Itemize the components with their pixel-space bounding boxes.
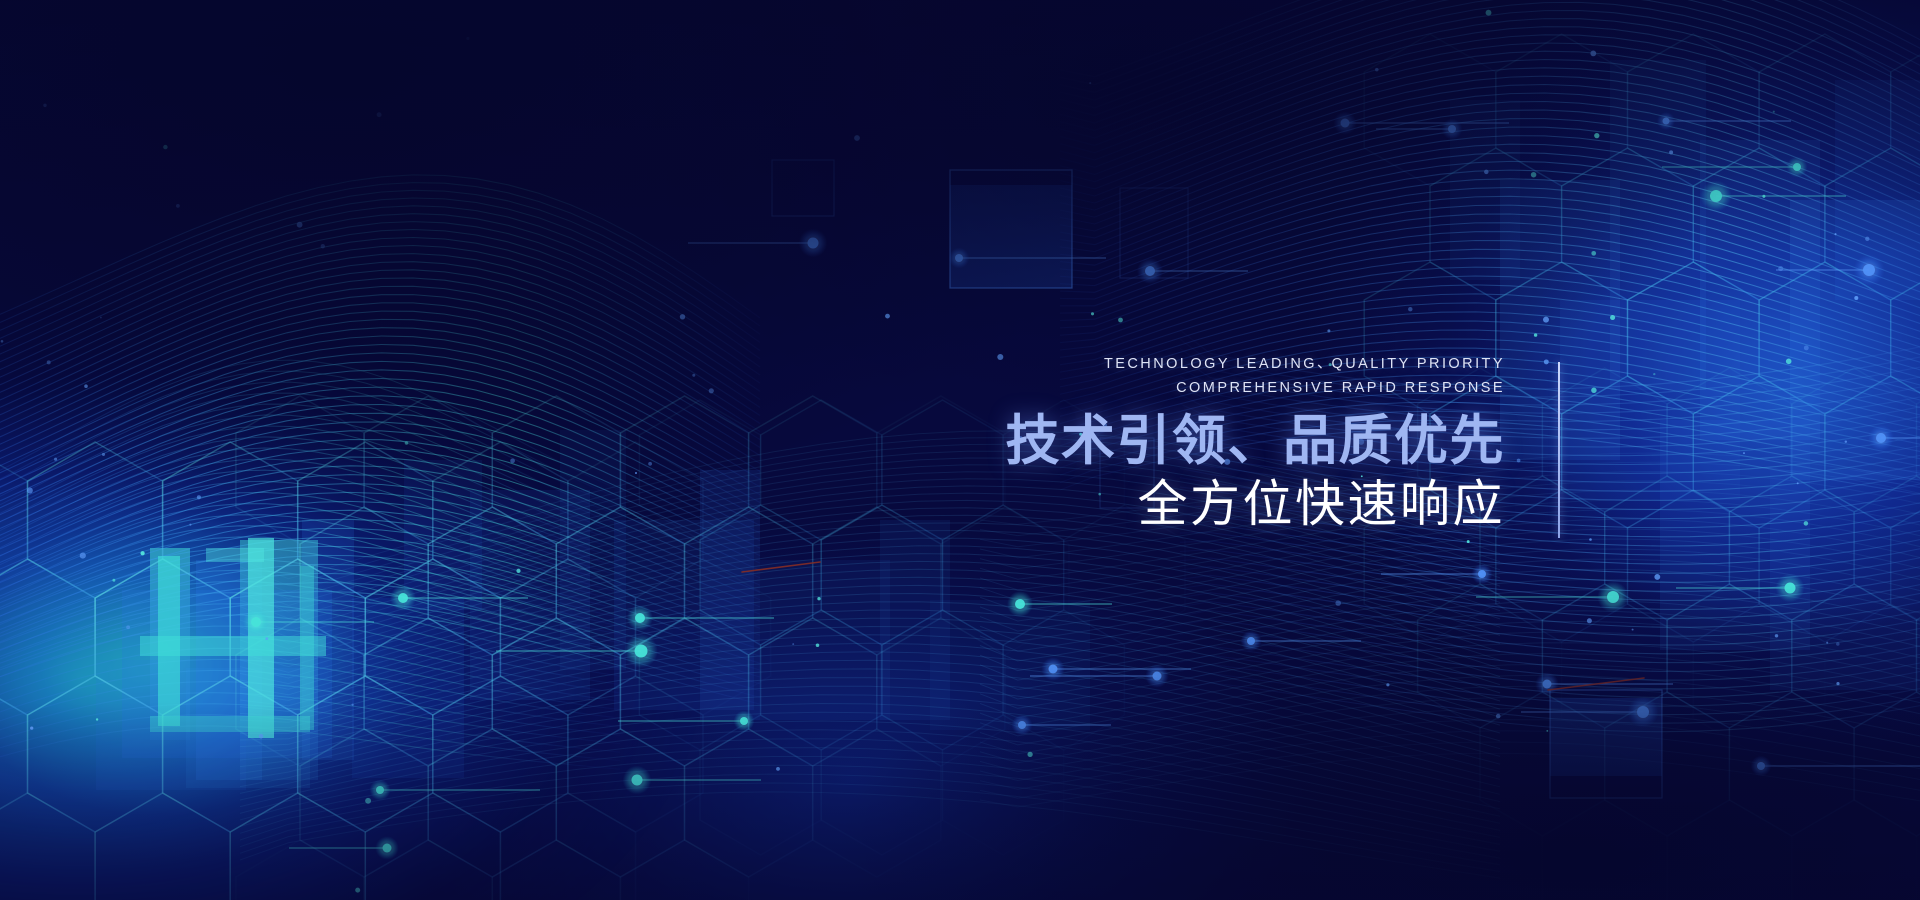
title-line-2: 全方位快速响应: [880, 475, 1505, 533]
headline-block: TECHNOLOGY LEADING、QUALITY PRIORITY COMP…: [880, 352, 1505, 533]
tech-banner: TECHNOLOGY LEADING、QUALITY PRIORITY COMP…: [0, 0, 1920, 900]
vertical-divider-rule: [1558, 362, 1560, 538]
eyebrow-separator: 、: [1317, 356, 1332, 372]
eyebrow-part-1: TECHNOLOGY LEADING: [1104, 356, 1317, 372]
title-line-1: 技术引领、品质优先: [880, 411, 1505, 471]
eyebrow-line-1: TECHNOLOGY LEADING、QUALITY PRIORITY: [880, 352, 1505, 376]
eyebrow-line-2: COMPREHENSIVE RAPID RESPONSE: [880, 376, 1505, 400]
eyebrow-part-2: QUALITY PRIORITY: [1332, 356, 1506, 372]
